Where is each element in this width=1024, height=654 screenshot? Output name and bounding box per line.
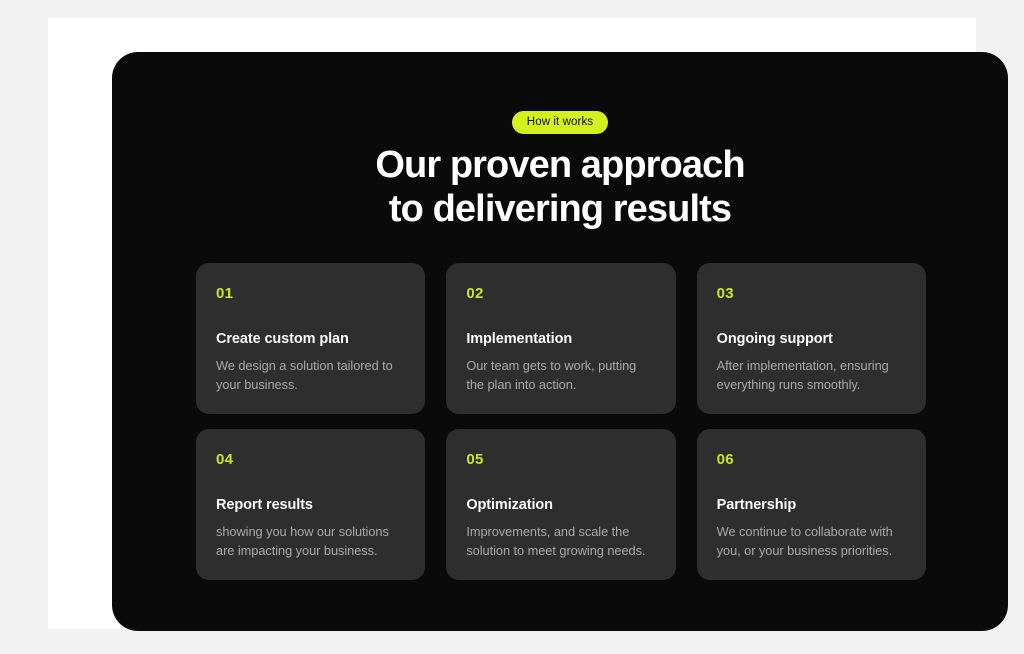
step-card-03[interactable]: 03 Ongoing support After implementation,…: [697, 263, 926, 414]
white-panel: How it works Our proven approach to deli…: [48, 18, 976, 629]
step-card-04[interactable]: 04 Report results showing you how our so…: [196, 429, 425, 580]
step-description: Improvements, and scale the solution to …: [466, 522, 655, 560]
step-title: Create custom plan: [216, 330, 405, 348]
steps-grid: 01 Create custom plan We design a soluti…: [196, 263, 926, 580]
step-number: 05: [466, 452, 655, 468]
heading-line-1: Our proven approach: [112, 143, 1008, 187]
step-description: We continue to collaborate with you, or …: [717, 522, 906, 560]
badge-row: How it works: [112, 111, 1008, 134]
step-description: showing you how our solutions are impact…: [216, 522, 405, 560]
section-heading: Our proven approach to delivering result…: [112, 143, 1008, 231]
step-number: 06: [717, 452, 906, 468]
step-title: Ongoing support: [717, 330, 906, 348]
step-description: We design a solution tailored to your bu…: [216, 356, 405, 394]
step-description: Our team gets to work, putting the plan …: [466, 356, 655, 394]
step-number: 03: [717, 286, 906, 302]
step-title: Report results: [216, 496, 405, 514]
step-title: Partnership: [717, 496, 906, 514]
step-number: 02: [466, 286, 655, 302]
step-title: Optimization: [466, 496, 655, 514]
step-card-01[interactable]: 01 Create custom plan We design a soluti…: [196, 263, 425, 414]
heading-line-2: to delivering results: [112, 187, 1008, 231]
step-title: Implementation: [466, 330, 655, 348]
how-it-works-section: How it works Our proven approach to deli…: [112, 52, 1008, 631]
step-number: 01: [216, 286, 405, 302]
step-card-05[interactable]: 05 Optimization Improvements, and scale …: [446, 429, 675, 580]
section-badge: How it works: [512, 111, 608, 134]
step-card-06[interactable]: 06 Partnership We continue to collaborat…: [697, 429, 926, 580]
step-number: 04: [216, 452, 405, 468]
step-description: After implementation, ensuring everythin…: [717, 356, 906, 394]
step-card-02[interactable]: 02 Implementation Our team gets to work,…: [446, 263, 675, 414]
